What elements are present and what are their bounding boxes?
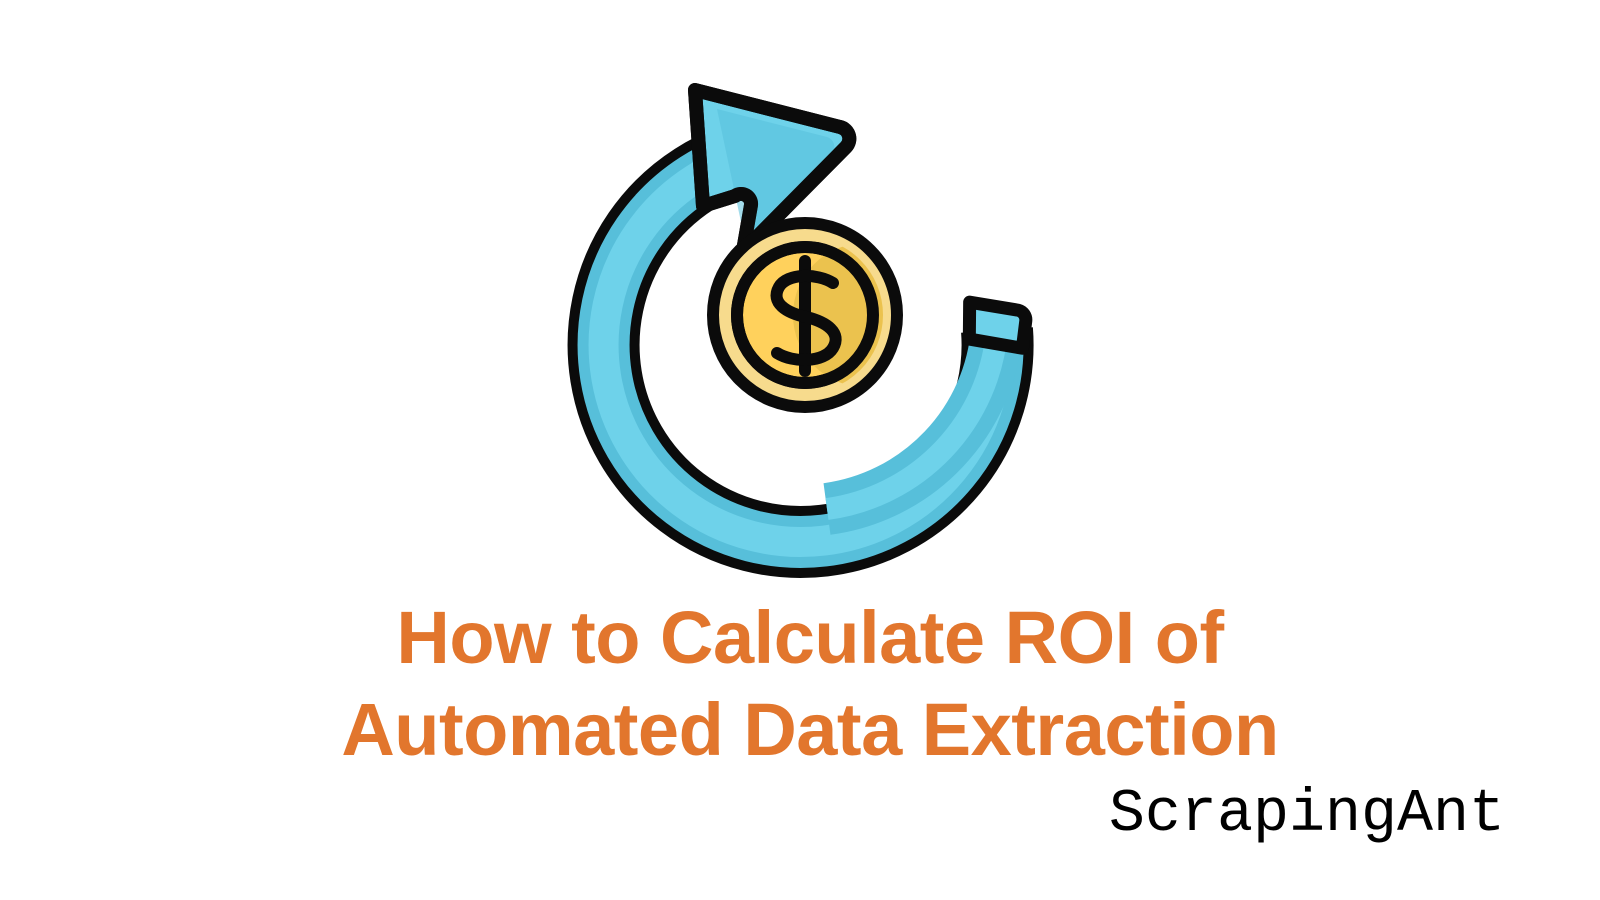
title-line-2: Automated Data Extraction [20,684,1600,776]
poster-canvas: How to Calculate ROI of Automated Data E… [0,0,1600,900]
brand-wordmark: ScrapingAnt [1109,780,1505,850]
circular-arrow-dollar-coin-icon [565,65,1035,535]
title-line-1: How to Calculate ROI of [20,592,1600,684]
dollar-coin [713,223,937,407]
brand-name: ScrapingAnt [1109,781,1505,849]
page-title: How to Calculate ROI of Automated Data E… [0,592,1600,776]
hero-illustration [0,40,1600,560]
